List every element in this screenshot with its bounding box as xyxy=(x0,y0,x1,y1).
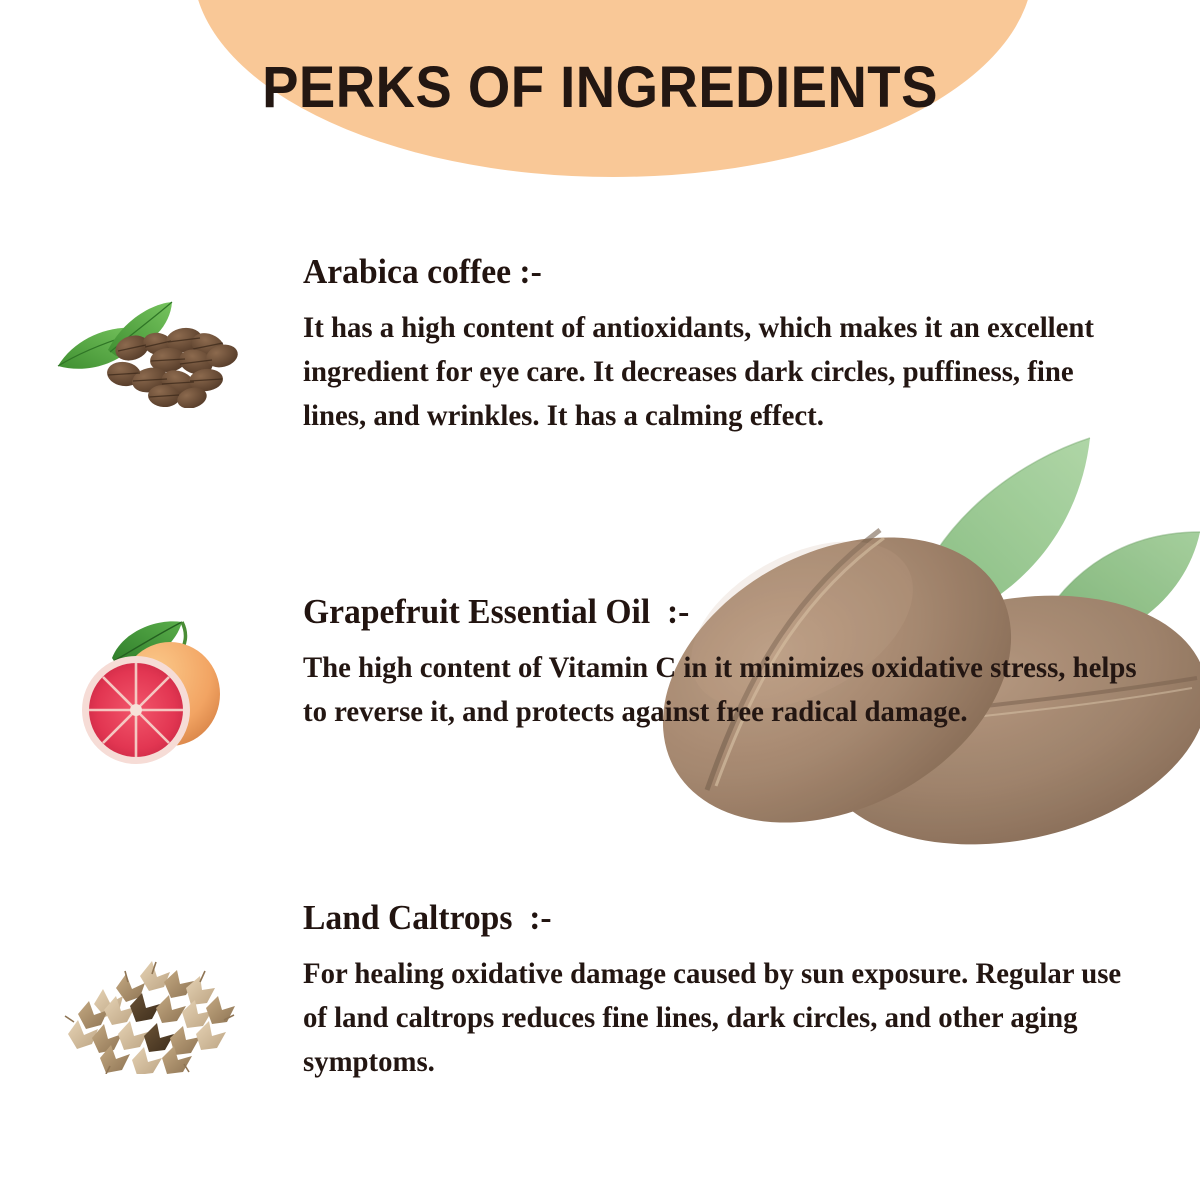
section-body-grapefruit: The high content of Vitamin C in it mini… xyxy=(303,646,1142,734)
section-grapefruit: Grapefruit Essential Oil :- The high con… xyxy=(303,592,1163,734)
page-title: PERKS OF INGREDIENTS xyxy=(36,57,1164,119)
halved-grapefruit xyxy=(82,656,190,764)
section-arabica: Arabica coffee :- It has a high content … xyxy=(303,252,1148,438)
land-caltrops-thumbnail xyxy=(54,952,239,1074)
grapefruit-thumbnail xyxy=(74,612,224,770)
section-heading-arabica: Arabica coffee :- xyxy=(303,252,1114,292)
section-heading-caltrops: Land Caltrops :- xyxy=(303,898,1119,938)
caltrop-pod-pile xyxy=(65,961,235,1074)
infographic-page: PERKS OF INGREDIENTS xyxy=(0,0,1200,1200)
section-heading-grapefruit: Grapefruit Essential Oil :- xyxy=(303,592,1129,632)
section-caltrops: Land Caltrops :- For healing oxidative d… xyxy=(303,898,1153,1084)
section-body-caltrops: For healing oxidative damage caused by s… xyxy=(303,952,1132,1084)
coffee-beans-and-leaves-thumbnail xyxy=(46,288,244,408)
section-body-arabica: It has a high content of antioxidants, w… xyxy=(303,306,1127,438)
coffee-bean-cluster xyxy=(105,326,240,408)
